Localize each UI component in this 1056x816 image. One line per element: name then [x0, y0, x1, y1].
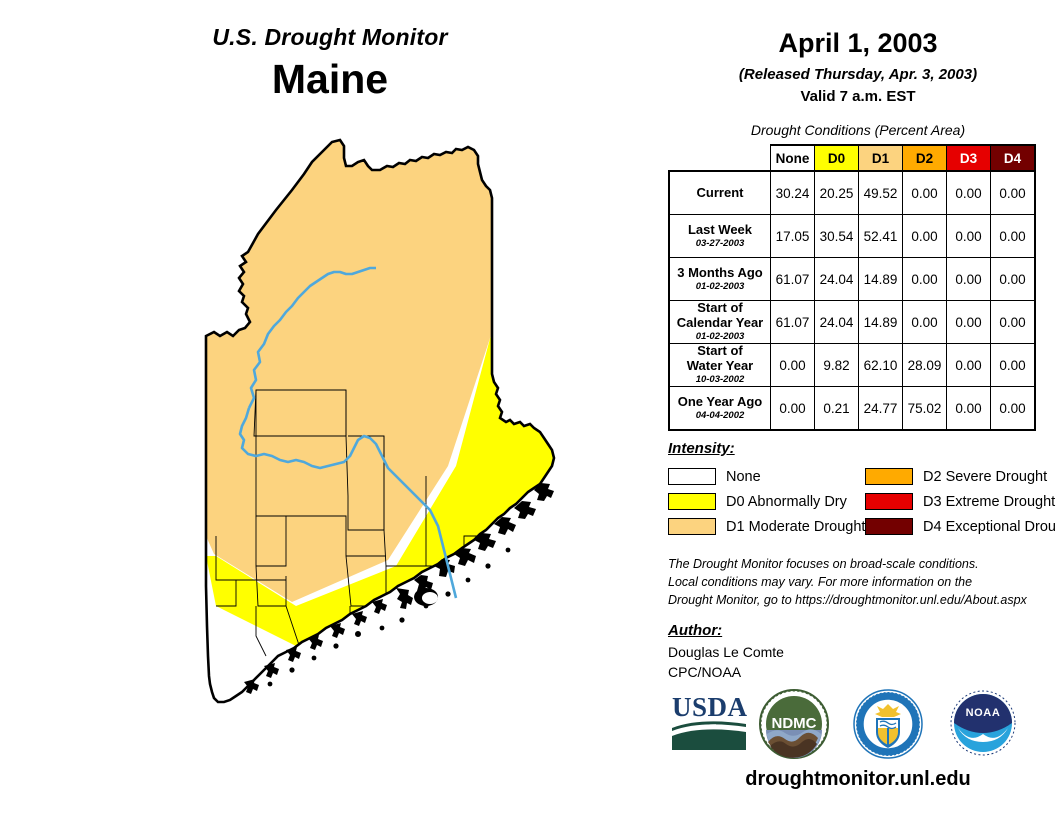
legend-item-d4: D4 Exceptional Drought	[865, 514, 1056, 539]
table-row: 3 Months Ago 01-02-2003 61.07 24.04 14.8…	[669, 258, 1035, 301]
row-label-date: 01-02-2003	[670, 332, 770, 343]
swatch-d0-icon	[668, 493, 716, 510]
col-header-d2: D2	[903, 145, 947, 171]
row-label-text: One Year Ago	[678, 394, 763, 409]
cell-current-d4: 0.00	[991, 171, 1036, 215]
table-row: Last Week 03-27-2003 17.05 30.54 52.41 0…	[669, 215, 1035, 258]
cell-last-week-d0: 30.54	[815, 215, 859, 258]
cell-wy-d1: 62.10	[859, 344, 903, 387]
table-row: Start of Calendar Year 01-02-2003 61.07 …	[669, 301, 1035, 344]
cell-1yr-d1: 24.77	[859, 387, 903, 431]
cell-current-d1: 49.52	[859, 171, 903, 215]
map-fill-layers	[96, 136, 566, 706]
row-label-text-line2: Water Year	[687, 358, 754, 373]
row-label-date: 04-04-2002	[670, 411, 770, 422]
legend-column-left: None D0 Abnormally Dry D1 Moderate Droug…	[668, 464, 865, 539]
swatch-d3-icon	[865, 493, 913, 510]
legend-label-d1: D1 Moderate Drought	[726, 519, 865, 535]
table-row: Start of Water Year 10-03-2002 0.00 9.82…	[669, 344, 1035, 387]
cell-1yr-d4: 0.00	[991, 387, 1036, 431]
cell-cy-d4: 0.00	[991, 301, 1036, 344]
valid-time: Valid 7 a.m. EST	[660, 88, 1056, 105]
map-suptitle: U.S. Drought Monitor	[0, 26, 660, 49]
map-title-block: U.S. Drought Monitor Maine	[0, 26, 660, 100]
legend-item-d2: D2 Severe Drought	[865, 464, 1056, 489]
cell-last-week-d4: 0.00	[991, 215, 1036, 258]
legend-label-none: None	[726, 469, 761, 485]
cell-3mo-d3: 0.00	[947, 258, 991, 301]
drought-conditions-table: None D0 D1 D2 D3 D4 Current 30.24 20.25 …	[668, 144, 1036, 431]
row-label-start-water-year: Start of Water Year 10-03-2002	[669, 344, 771, 387]
info-panel: April 1, 2003 (Released Thursday, Apr. 3…	[660, 0, 1056, 816]
cell-3mo-none: 61.07	[771, 258, 815, 301]
legend-label-d4: D4 Exceptional Drought	[923, 519, 1056, 535]
row-label-text-line1: Start of	[697, 343, 743, 358]
footer-url[interactable]: droughtmonitor.unl.edu	[660, 768, 1056, 791]
ndmc-logo[interactable]: NDMC	[758, 688, 830, 760]
table-caption: Drought Conditions (Percent Area)	[660, 122, 1056, 138]
row-label-text-line1: Start of	[697, 300, 743, 315]
cell-cy-d0: 24.04	[815, 301, 859, 344]
disclaimer-line-3: Drought Monitor, go to https://droughtmo…	[668, 592, 1054, 610]
col-header-d1: D1	[859, 145, 903, 171]
row-label-one-year-ago: One Year Ago 04-04-2002	[669, 387, 771, 431]
author-name: Douglas Le Comte	[668, 642, 784, 662]
col-header-none: None	[771, 145, 815, 171]
map-region-d1	[206, 136, 566, 602]
author-heading: Author:	[668, 622, 722, 639]
cell-3mo-d2: 0.00	[903, 258, 947, 301]
legend-item-none: None	[668, 464, 865, 489]
legend-label-d3: D3 Extreme Drought	[923, 494, 1055, 510]
row-label-date: 01-02-2003	[670, 282, 770, 293]
row-label-date: 03-27-2003	[670, 239, 770, 250]
cell-3mo-d4: 0.00	[991, 258, 1036, 301]
row-label-current: Current	[669, 171, 771, 215]
cell-1yr-d2: 75.02	[903, 387, 947, 431]
cell-3mo-d1: 14.89	[859, 258, 903, 301]
disclaimer-line-1: The Drought Monitor focuses on broad-sca…	[668, 556, 1054, 574]
cell-cy-d3: 0.00	[947, 301, 991, 344]
swatch-d2-icon	[865, 468, 913, 485]
legend-column-right: D2 Severe Drought D3 Extreme Drought D4 …	[865, 464, 1056, 539]
col-header-d3: D3	[947, 145, 991, 171]
legend-item-d3: D3 Extreme Drought	[865, 489, 1056, 514]
cell-1yr-d3: 0.00	[947, 387, 991, 431]
disclaimer-line-2: Local conditions may vary. For more info…	[668, 574, 1054, 592]
cell-current-d0: 20.25	[815, 171, 859, 215]
cell-current-none: 30.24	[771, 171, 815, 215]
legend-label-d2: D2 Severe Drought	[923, 469, 1047, 485]
cell-current-d3: 0.00	[947, 171, 991, 215]
noaa-logo-text: NOAA	[966, 707, 1001, 719]
cell-wy-d2: 28.09	[903, 344, 947, 387]
cell-1yr-d0: 0.21	[815, 387, 859, 431]
table-row: One Year Ago 04-04-2002 0.00 0.21 24.77 …	[669, 387, 1035, 431]
cell-3mo-d0: 24.04	[815, 258, 859, 301]
release-date: (Released Thursday, Apr. 3, 2003)	[660, 66, 1056, 83]
cell-last-week-d3: 0.00	[947, 215, 991, 258]
cell-1yr-none: 0.00	[771, 387, 815, 431]
row-label-text: Current	[697, 185, 744, 200]
col-header-d4: D4	[991, 145, 1036, 171]
table-row: Current 30.24 20.25 49.52 0.00 0.00 0.00	[669, 171, 1035, 215]
logo-row: USDA NDMC	[660, 688, 1056, 768]
cell-current-d2: 0.00	[903, 171, 947, 215]
legend-label-d0: D0 Abnormally Dry	[726, 494, 847, 510]
table-body: Current 30.24 20.25 49.52 0.00 0.00 0.00…	[669, 171, 1035, 430]
row-label-text: 3 Months Ago	[677, 265, 762, 280]
legend-item-d1: D1 Moderate Drought	[668, 514, 865, 539]
usda-logo-text: USDA	[672, 692, 748, 722]
swatch-d4-icon	[865, 518, 913, 535]
row-label-start-calendar-year: Start of Calendar Year 01-02-2003	[669, 301, 771, 344]
cell-cy-d2: 0.00	[903, 301, 947, 344]
table-header-row: None D0 D1 D2 D3 D4	[669, 145, 1035, 171]
map-panel: U.S. Drought Monitor Maine	[0, 0, 660, 816]
row-label-date: 10-03-2002	[670, 375, 770, 386]
intensity-heading: Intensity:	[668, 440, 735, 457]
author-block: Douglas Le Comte CPC/NOAA	[668, 642, 784, 683]
cell-wy-d0: 9.82	[815, 344, 859, 387]
cell-wy-d3: 0.00	[947, 344, 991, 387]
author-affiliation: CPC/NOAA	[668, 662, 784, 682]
page-title: Maine	[0, 59, 660, 100]
row-label-text: Last Week	[688, 222, 752, 237]
col-header-d0: D0	[815, 145, 859, 171]
department-of-commerce-seal[interactable]	[852, 688, 924, 760]
disclaimer-text: The Drought Monitor focuses on broad-sca…	[668, 556, 1054, 609]
ndmc-logo-text: NDMC	[772, 715, 817, 732]
cell-last-week-none: 17.05	[771, 215, 815, 258]
cell-cy-d1: 14.89	[859, 301, 903, 344]
swatch-none-icon	[668, 468, 716, 485]
cell-wy-none: 0.00	[771, 344, 815, 387]
table-corner-cell	[669, 145, 771, 171]
cell-last-week-d2: 0.00	[903, 215, 947, 258]
drought-monitor-page: U.S. Drought Monitor Maine	[0, 0, 1056, 816]
cell-last-week-d1: 52.41	[859, 215, 903, 258]
cell-cy-none: 61.07	[771, 301, 815, 344]
row-label-3-months-ago: 3 Months Ago 01-02-2003	[669, 258, 771, 301]
swatch-d1-icon	[668, 518, 716, 535]
legend-item-d0: D0 Abnormally Dry	[668, 489, 865, 514]
maine-drought-map[interactable]	[96, 136, 566, 706]
report-date: April 1, 2003	[660, 30, 1056, 57]
row-label-last-week: Last Week 03-27-2003	[669, 215, 771, 258]
cell-wy-d4: 0.00	[991, 344, 1036, 387]
usda-logo[interactable]: USDA	[670, 688, 748, 754]
row-label-text-line2: Calendar Year	[677, 315, 763, 330]
noaa-logo[interactable]: NOAA	[948, 688, 1018, 758]
